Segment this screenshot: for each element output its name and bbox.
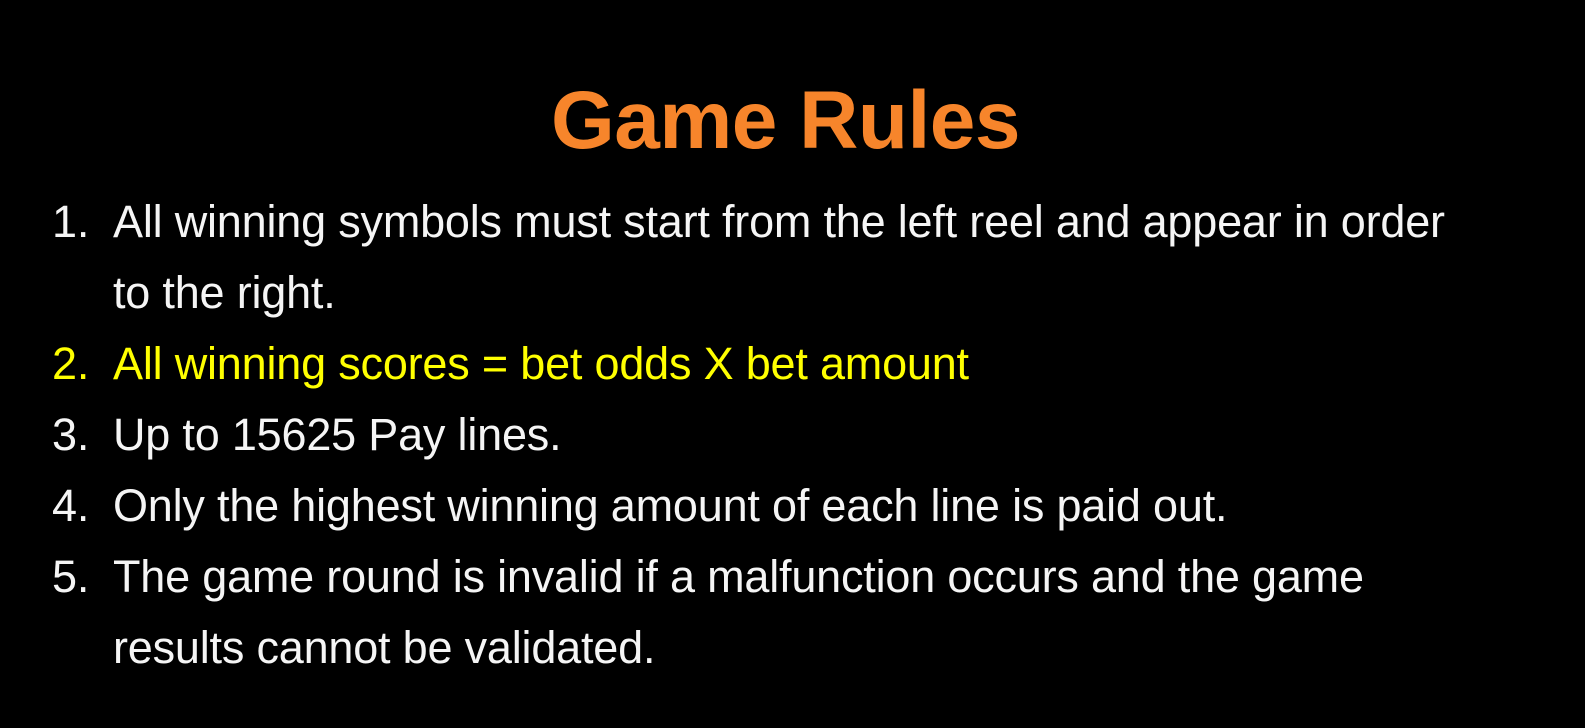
rule-item-3: 3. Up to 15625 Pay lines.	[52, 399, 1492, 470]
rule-marker-4: 4.	[52, 470, 108, 541]
rule-text-1: All winning symbols must start from the …	[113, 186, 1492, 328]
rule-text-5: The game round is invalid if a malfuncti…	[113, 541, 1492, 683]
rule-text-2: All winning scores = bet odds X bet amou…	[113, 328, 1492, 399]
game-rules-list: 1. All winning symbols must start from t…	[52, 186, 1492, 683]
rule-item-4: 4. Only the highest winning amount of ea…	[52, 470, 1492, 541]
rule-marker-3: 3.	[52, 399, 108, 470]
rule-item-2: 2. All winning scores = bet odds X bet a…	[52, 328, 1492, 399]
rule-text-3: Up to 15625 Pay lines.	[113, 399, 1492, 470]
rule-marker-2: 2.	[52, 328, 108, 399]
rule-marker-5: 5.	[52, 541, 108, 612]
rule-item-1: 1. All winning symbols must start from t…	[52, 186, 1492, 328]
rule-marker-1: 1.	[52, 186, 108, 257]
game-rules-screen: Game Rules 1. All winning symbols must s…	[0, 0, 1585, 728]
rule-item-5: 5. The game round is invalid if a malfun…	[52, 541, 1492, 683]
page-title: Game Rules	[0, 77, 1571, 166]
rule-text-4: Only the highest winning amount of each …	[113, 470, 1492, 541]
